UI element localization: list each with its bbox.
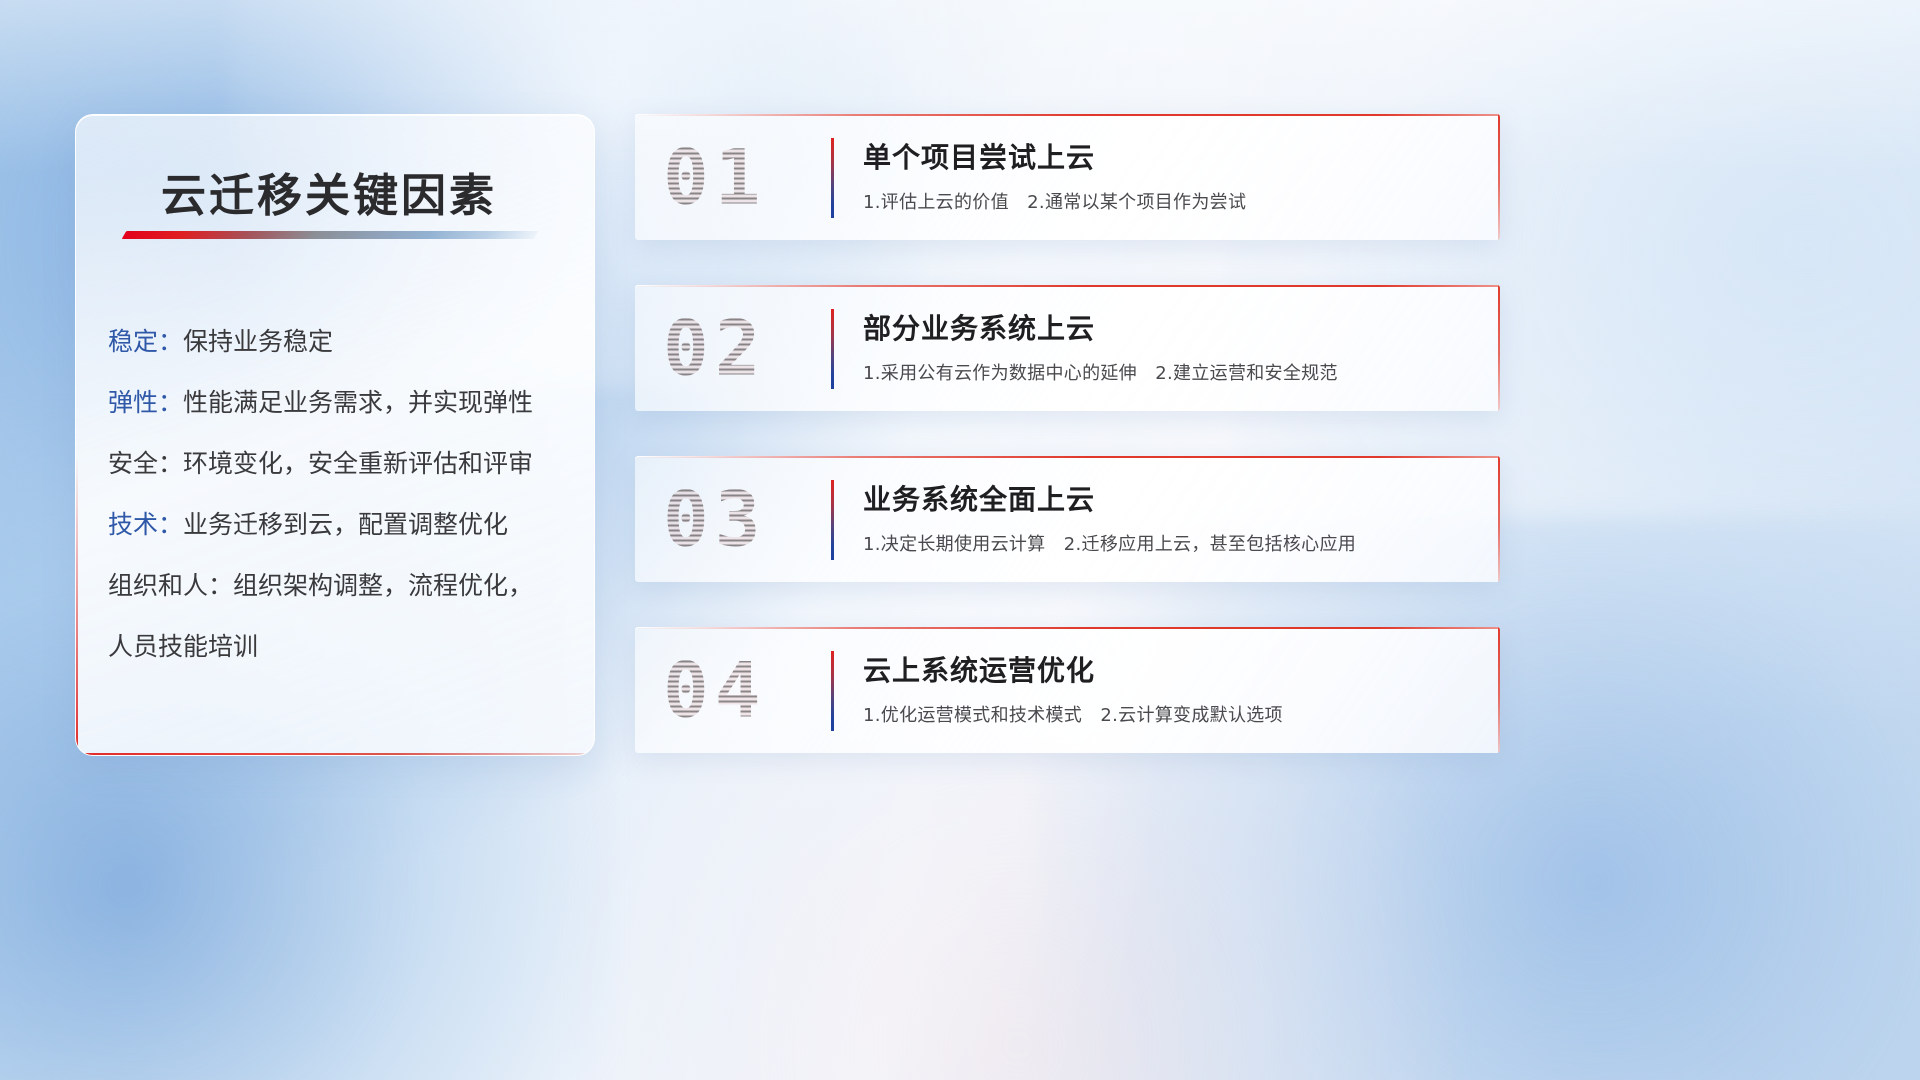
- stage-title: 云上系统运营优化: [863, 649, 1460, 689]
- panel-bottom-accent-line: [76, 753, 594, 755]
- stage-card[interactable]: 0404云上系统运营优化1.优化运营模式和技术模式 2.云计算变成默认选项: [635, 627, 1500, 753]
- list-item-text: 人员技能培训: [108, 632, 258, 661]
- list-item-label: 组织和人：: [108, 571, 233, 600]
- panel-left-accent-line: [76, 455, 78, 755]
- stage-number-watermark: 04: [663, 646, 767, 735]
- stage-description: 1.决定长期使用云计算 2.迁移应用上云，甚至包括核心应用: [863, 530, 1460, 556]
- card-right-accent-line: [1498, 114, 1500, 240]
- stage-card[interactable]: 0202部分业务系统上云1.采用公有云作为数据中心的延伸 2.建立运营和安全规范: [635, 285, 1500, 411]
- card-top-accent-line: [635, 114, 1500, 116]
- list-item: 组织和人：组织架构调整，流程优化，: [108, 555, 578, 616]
- cloud-migration-stages: 0101单个项目尝试上云1.评估上云的价值 2.通常以某个项目作为尝试0202部…: [635, 114, 1500, 798]
- card-body: 云上系统运营优化1.优化运营模式和技术模式 2.云计算变成默认选项: [863, 649, 1460, 727]
- list-item-text: 保持业务稳定: [183, 327, 333, 356]
- card-top-accent-line: [635, 456, 1500, 458]
- list-item: 稳定：保持业务稳定: [108, 311, 578, 372]
- list-item-text: 业务迁移到云，配置调整优化: [183, 510, 508, 539]
- card-divider-bar: [831, 138, 834, 218]
- list-item-text: 性能满足业务需求，并实现弹性: [183, 388, 533, 417]
- key-factors-panel: 云迁移关键因素 稳定：保持业务稳定弹性：性能满足业务需求，并实现弹性安全：环境变…: [75, 114, 595, 756]
- list-item-text: 环境变化，安全重新评估和评审: [183, 449, 533, 478]
- list-item-label: 安全：: [108, 449, 183, 478]
- list-item-label: 弹性：: [108, 388, 183, 417]
- list-item: 弹性：性能满足业务需求，并实现弹性: [108, 372, 578, 433]
- stage-card[interactable]: 0303业务系统全面上云1.决定长期使用云计算 2.迁移应用上云，甚至包括核心应…: [635, 456, 1500, 582]
- key-factors-list: 稳定：保持业务稳定弹性：性能满足业务需求，并实现弹性安全：环境变化，安全重新评估…: [108, 311, 578, 677]
- card-body: 部分业务系统上云1.采用公有云作为数据中心的延伸 2.建立运营和安全规范: [863, 307, 1460, 385]
- list-item: 人员技能培训: [108, 616, 578, 677]
- list-item: 安全：环境变化，安全重新评估和评审: [108, 433, 578, 494]
- card-right-accent-line: [1498, 456, 1500, 582]
- title-underline-gradient: [122, 231, 539, 239]
- stage-number-watermark: 02: [663, 304, 767, 393]
- card-right-accent-line: [1498, 627, 1500, 753]
- stage-card[interactable]: 0101单个项目尝试上云1.评估上云的价值 2.通常以某个项目作为尝试: [635, 114, 1500, 240]
- stage-title: 业务系统全面上云: [863, 478, 1460, 518]
- card-divider-bar: [831, 651, 834, 731]
- card-body: 业务系统全面上云1.决定长期使用云计算 2.迁移应用上云，甚至包括核心应用: [863, 478, 1460, 556]
- page-title: 云迁移关键因素: [161, 159, 497, 224]
- card-right-accent-line: [1498, 285, 1500, 411]
- stage-description: 1.评估上云的价值 2.通常以某个项目作为尝试: [863, 188, 1460, 214]
- card-top-accent-line: [635, 627, 1500, 629]
- list-item-label: 稳定：: [108, 327, 183, 356]
- stage-title: 单个项目尝试上云: [863, 136, 1460, 176]
- card-divider-bar: [831, 309, 834, 389]
- stage-number-watermark: 03: [663, 475, 767, 564]
- list-item-label: 技术：: [108, 510, 183, 539]
- stage-description: 1.采用公有云作为数据中心的延伸 2.建立运营和安全规范: [863, 359, 1460, 385]
- stage-number-watermark: 01: [663, 133, 767, 222]
- card-divider-bar: [831, 480, 834, 560]
- stage-title: 部分业务系统上云: [863, 307, 1460, 347]
- list-item: 技术：业务迁移到云，配置调整优化: [108, 494, 578, 555]
- card-top-accent-line: [635, 285, 1500, 287]
- card-body: 单个项目尝试上云1.评估上云的价值 2.通常以某个项目作为尝试: [863, 136, 1460, 214]
- list-item-text: 组织架构调整，流程优化，: [233, 571, 533, 600]
- stage-description: 1.优化运营模式和技术模式 2.云计算变成默认选项: [863, 701, 1460, 727]
